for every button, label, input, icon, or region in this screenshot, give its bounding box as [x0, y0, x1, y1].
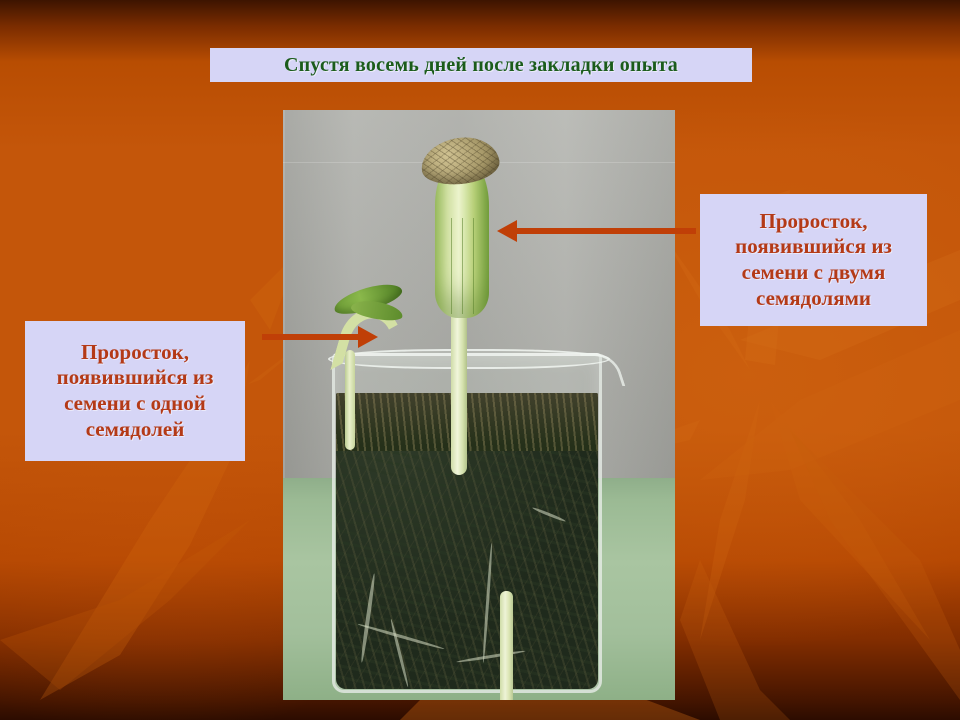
dicot-stem	[500, 591, 513, 700]
page-title: Спустя восемь дней после закладки опыта	[284, 54, 678, 77]
presentation-slide: Спустя восемь дней после закладки опыта …	[0, 0, 960, 720]
callout-line: семядолями	[735, 286, 892, 312]
left-arrow-shaft	[262, 334, 360, 340]
callout-line: появившийся из	[735, 234, 892, 260]
right-arrow-head	[497, 220, 517, 242]
callout-line: Проросток,	[735, 209, 892, 235]
soil-substrate	[336, 393, 598, 689]
callout-line: появившийся из	[57, 365, 214, 391]
callout-dicot-seedling: Проросток, появившийся из семени с двумя…	[700, 194, 927, 326]
callout-line: семени с двумя	[735, 260, 892, 286]
soil-surface-debris	[336, 393, 598, 451]
callout-line: семени с одной	[57, 391, 214, 417]
callout-dicot-text: Проросток, появившийся из семени с двумя…	[735, 209, 892, 311]
callout-line: семядолей	[57, 417, 214, 443]
callout-line: Проросток,	[57, 340, 214, 366]
right-arrow-shaft	[516, 228, 696, 234]
callout-monocot-text: Проросток, появившийся из семени с одной…	[57, 340, 214, 442]
left-arrow-head	[358, 326, 378, 348]
glass-beaker	[332, 353, 602, 693]
experiment-photograph	[283, 110, 675, 700]
slide-title-box: Спустя восемь дней после закладки опыта	[210, 48, 752, 82]
callout-monocot-seedling: Проросток, появившийся из семени с одной…	[25, 321, 245, 461]
